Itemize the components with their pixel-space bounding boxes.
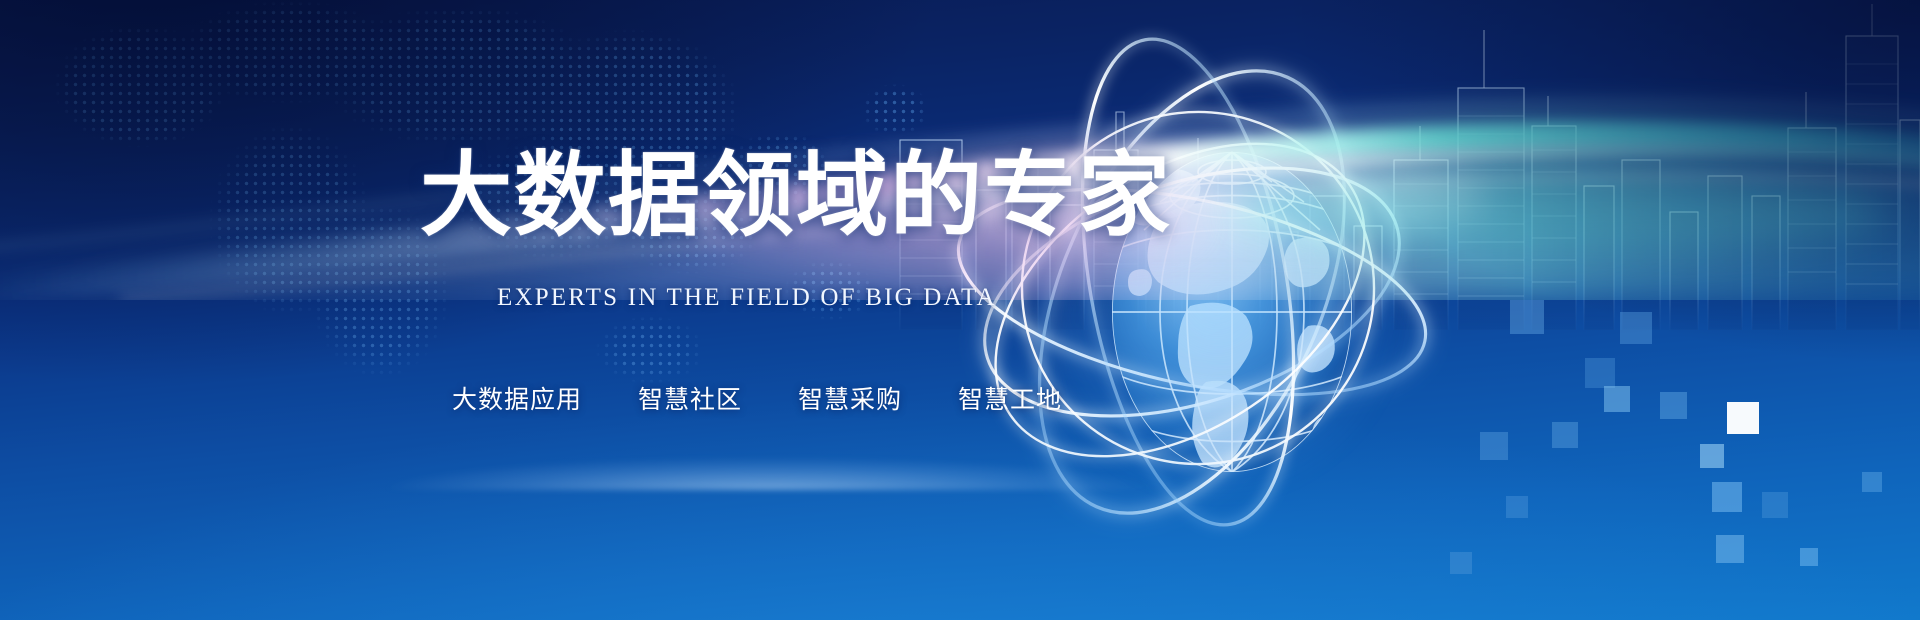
page-title: 大数据领域的专家 <box>420 150 1172 242</box>
keyword-item-2[interactable]: 智慧社区 <box>638 380 742 416</box>
keyword-item-4[interactable]: 智慧工地 <box>958 380 1062 416</box>
banner-copy: 大数据领域的专家 EXPERTS IN THE FIELD OF BIG DAT… <box>0 0 1920 620</box>
keyword-item-3[interactable]: 智慧采购 <box>798 380 902 416</box>
big-data-hero-banner: 大数据领域的专家 EXPERTS IN THE FIELD OF BIG DAT… <box>0 0 1920 620</box>
banner-subtitle: EXPERTS IN THE FIELD OF BIG DATA <box>497 284 997 312</box>
keyword-list: 大数据应用智慧社区智慧采购智慧工地 <box>452 380 1062 416</box>
keyword-item-1[interactable]: 大数据应用 <box>452 380 582 416</box>
